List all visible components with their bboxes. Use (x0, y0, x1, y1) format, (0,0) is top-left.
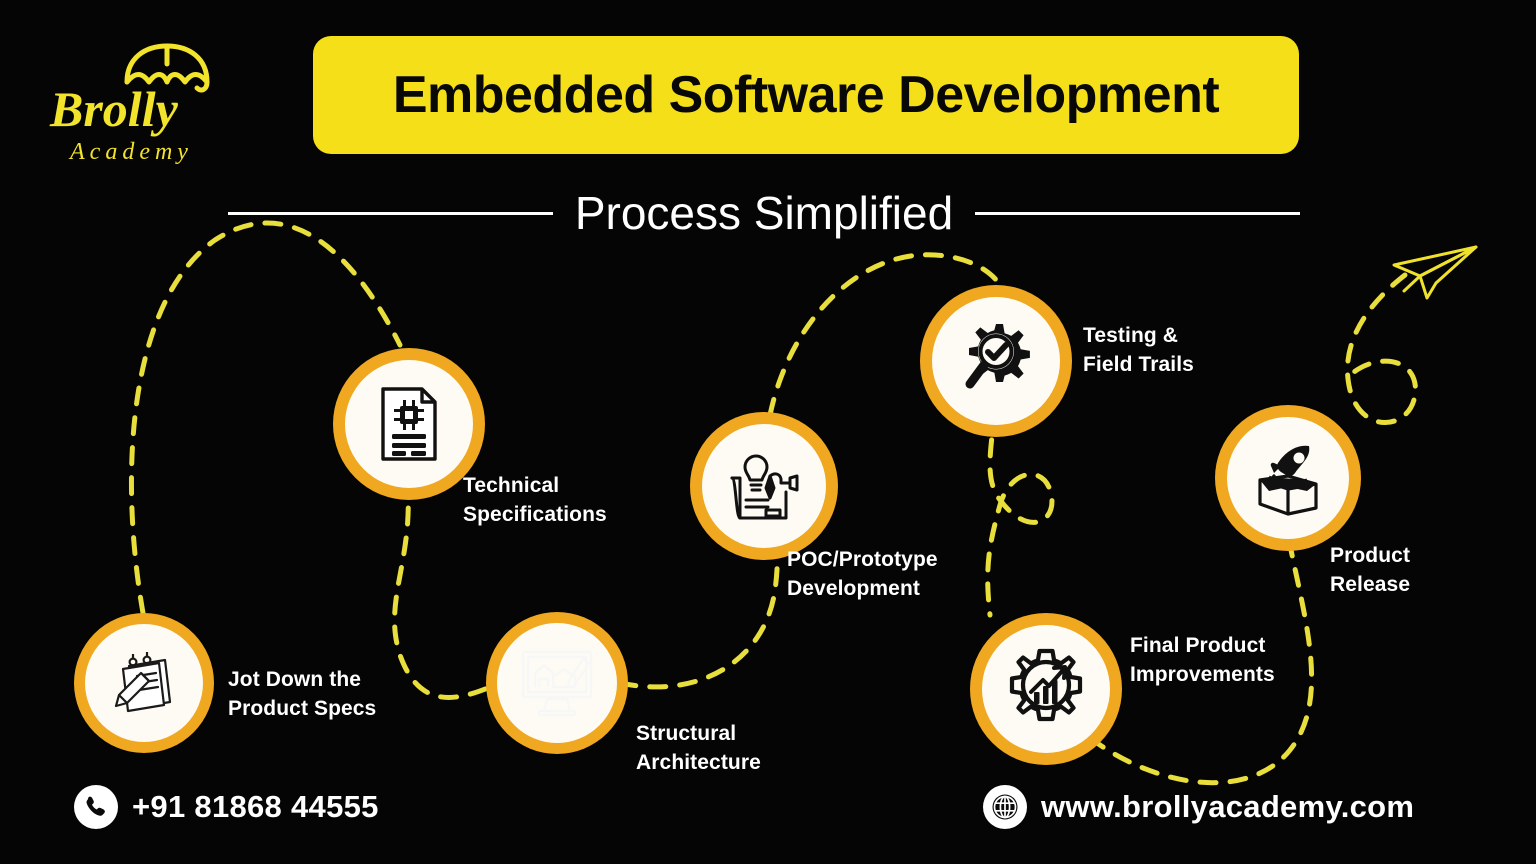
step-node-poc-prototype-development[interactable] (690, 412, 838, 560)
logo-wordmark: Brolly (50, 84, 178, 134)
step-node-jot-down-the-product-specs[interactable] (74, 613, 214, 753)
subtitle-row: Process Simplified (228, 180, 1300, 246)
step-label-product-release: Product Release (1330, 542, 1530, 600)
title-banner: Embedded Software Development (313, 36, 1299, 154)
footer-phone[interactable]: +91 81868 44555 (74, 785, 379, 829)
page-subtitle: Process Simplified (575, 186, 953, 240)
step-label-structural-architecture: Structural Architecture (636, 720, 866, 778)
step-node-testing-field-trails[interactable] (920, 285, 1072, 437)
step-label-final-product-improvements: Final Product Improvements (1130, 632, 1380, 690)
rule-left (228, 212, 553, 215)
step-label-testing-field-trails: Testing & Field Trails (1083, 322, 1313, 380)
step-node-product-release[interactable] (1215, 405, 1361, 551)
brand-logo: Brolly Academy (44, 40, 234, 170)
rocket-box-icon (1247, 440, 1329, 516)
footer-website[interactable]: www.brollyacademy.com (983, 785, 1414, 829)
phone-icon (74, 785, 118, 829)
gear-magnifier-check-icon (953, 318, 1039, 404)
step-label-jot-down-the-product-specs: Jot Down the Product Specs (228, 666, 458, 724)
step-label-poc-prototype-development: POC/Prototype Development (787, 546, 1037, 604)
lightbulb-prototype-icon (724, 448, 804, 524)
rule-right (975, 212, 1300, 215)
step-label-technical-specifications: Technical Specifications (463, 472, 703, 530)
gear-growth-chart-icon (1003, 646, 1089, 732)
notepad-pencil-icon (107, 646, 181, 720)
document-chip-icon (373, 384, 445, 464)
infographic-canvas: Brolly Academy Embedded Software Develop… (0, 0, 1536, 864)
step-node-structural-architecture[interactable] (486, 612, 628, 754)
paper-plane-icon (1390, 243, 1480, 308)
website-url: www.brollyacademy.com (1041, 789, 1414, 825)
monitor-blueprint-icon (517, 647, 597, 719)
page-title: Embedded Software Development (393, 65, 1219, 125)
phone-number: +91 81868 44555 (132, 789, 379, 825)
globe-icon (983, 785, 1027, 829)
logo-subtext: Academy (70, 140, 193, 164)
step-node-final-product-improvements[interactable] (970, 613, 1122, 765)
